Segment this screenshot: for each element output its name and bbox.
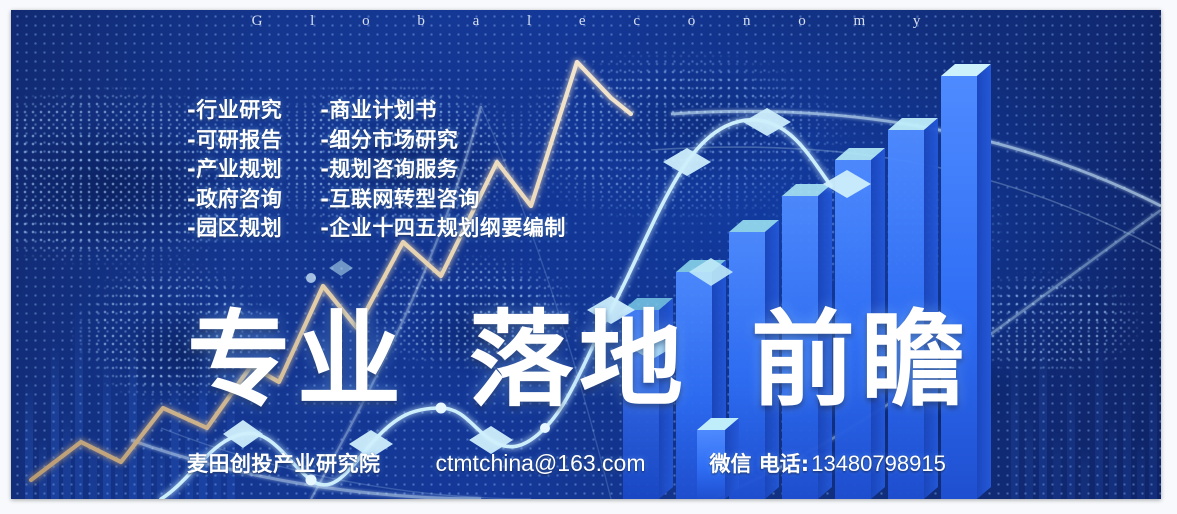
- list-item: -园区规划: [187, 214, 282, 244]
- service-list-left: -行业研究 -可研报告 -产业规划 -政府咨询 -园区规划: [187, 96, 282, 244]
- chart-artwork: [11, 10, 1161, 499]
- list-item: -互联网转型咨询: [320, 185, 566, 215]
- list-item: -行业研究: [187, 96, 282, 126]
- list-item: -产业规划: [187, 155, 282, 185]
- promo-banner: G l o b a l e c o n o m y -行业研究 -可研报告 -产…: [11, 10, 1161, 499]
- list-item: -政府咨询: [187, 185, 282, 215]
- list-item: -商业计划书: [320, 96, 566, 126]
- contact-footer: 麦田创投产业研究院 ctmtchina@163.com 微信 电话: 13480…: [187, 448, 1121, 478]
- page-title: 专业 落地 前瞻: [187, 308, 971, 412]
- service-lists: -行业研究 -可研报告 -产业规划 -政府咨询 -园区规划 -商业计划书 -细分…: [187, 96, 566, 244]
- phone-number[interactable]: 13480798915: [811, 451, 946, 477]
- bar-columns: [623, 64, 991, 499]
- headline-word-1: 专业: [187, 308, 407, 412]
- service-list-right: -商业计划书 -细分市场研究 -规划咨询服务 -互联网转型咨询 -企业十四五规划…: [320, 96, 566, 244]
- header-word: G l o b a l e c o n o m y: [11, 13, 1161, 43]
- wechat-phone-label: 微信 电话:: [710, 448, 810, 478]
- list-item: -企业十四五规划纲要编制: [320, 214, 566, 244]
- list-item: -细分市场研究: [320, 126, 566, 156]
- list-item: -规划咨询服务: [320, 155, 566, 185]
- headline-word-3: 前瞻: [751, 308, 971, 412]
- headline-word-2: 落地: [469, 308, 689, 412]
- organization-name: 麦田创投产业研究院: [187, 448, 381, 478]
- list-item: -可研报告: [187, 126, 282, 156]
- email-address[interactable]: ctmtchina@163.com: [436, 450, 646, 477]
